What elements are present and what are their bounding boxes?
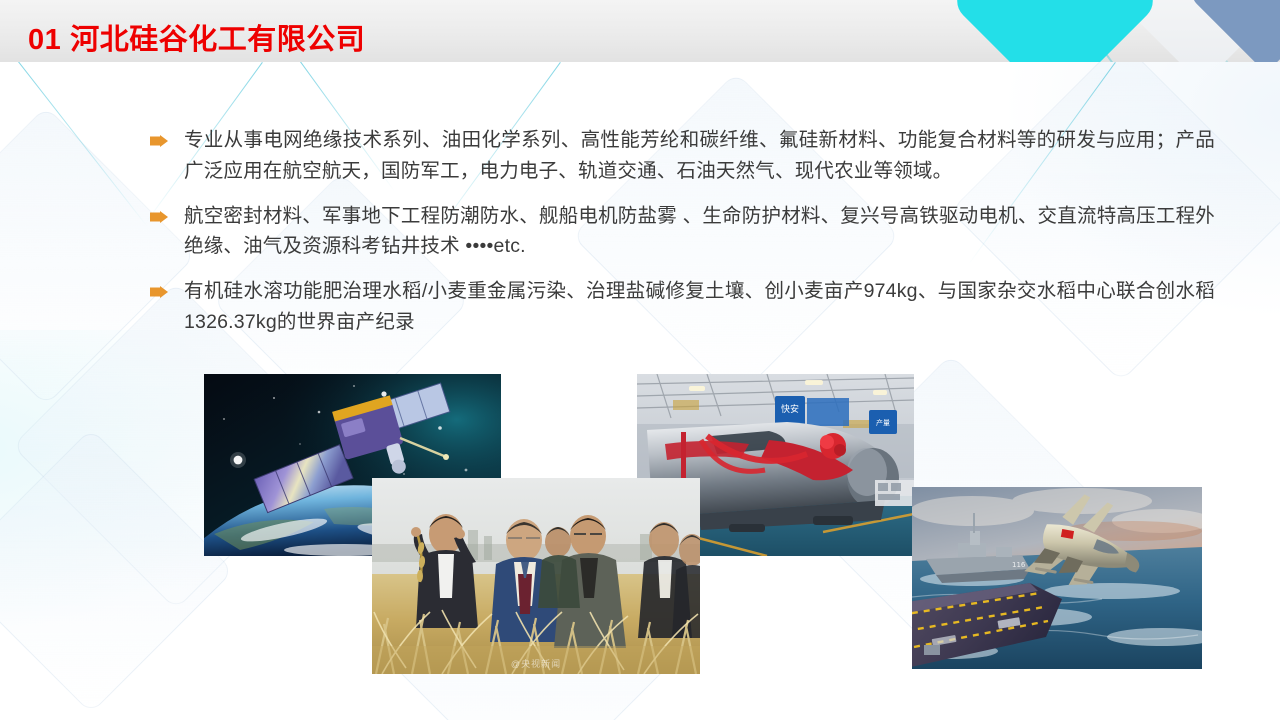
bullet-text: 专业从事电网绝缘技术系列、油田化学系列、高性能芳纶和碳纤维、氟硅新材料、功能复合… [184, 125, 1215, 187]
bullet-text: 航空密封材料、军事地下工程防潮防水、舰船电机防盐雾 、生命防护材料、复兴号高铁驱… [184, 201, 1215, 263]
photo-collage: 快安 产量 [0, 0, 1280, 720]
page-title-number: 01 [28, 24, 61, 56]
list-item: 航空密封材料、军事地下工程防潮防水、舰船电机防盐雾 、生命防护材料、复兴号高铁驱… [150, 201, 1215, 263]
svg-text:快安: 快安 [781, 403, 799, 415]
rice-field-inspection-photo: @央视新闻 [372, 478, 700, 674]
arrow-right-marker-icon [150, 134, 168, 146]
bullet-text: 有机硅水溶功能肥治理水稻/小麦重金属污染、治理盐碱修复土壤、创小麦亩产974kg… [184, 276, 1215, 338]
image-watermark: @央视新闻 [511, 657, 561, 670]
page-title: 01河北硅谷化工有限公司 [28, 16, 365, 58]
list-item: 专业从事电网绝缘技术系列、油田化学系列、高性能芳纶和碳纤维、氟硅新材料、功能复合… [150, 125, 1215, 187]
aircraft-carrier-jet-photo: 116 [912, 487, 1202, 669]
svg-text:产量: 产量 [876, 418, 890, 427]
arrow-right-marker-icon [150, 285, 168, 297]
list-item: 有机硅水溶功能肥治理水稻/小麦重金属污染、治理盐碱修复土壤、创小麦亩产974kg… [150, 276, 1215, 338]
arrow-right-marker-icon [150, 210, 168, 222]
page-title-text: 河北硅谷化工有限公司 [70, 24, 365, 56]
svg-text:116: 116 [1012, 561, 1026, 569]
bullet-list: 专业从事电网绝缘技术系列、油田化学系列、高性能芳纶和碳纤维、氟硅新材料、功能复合… [150, 125, 1215, 352]
slide-canvas: 01河北硅谷化工有限公司 专业从事电网绝缘技术系列、油田化学系列、高性能芳纶和碳… [0, 0, 1280, 720]
